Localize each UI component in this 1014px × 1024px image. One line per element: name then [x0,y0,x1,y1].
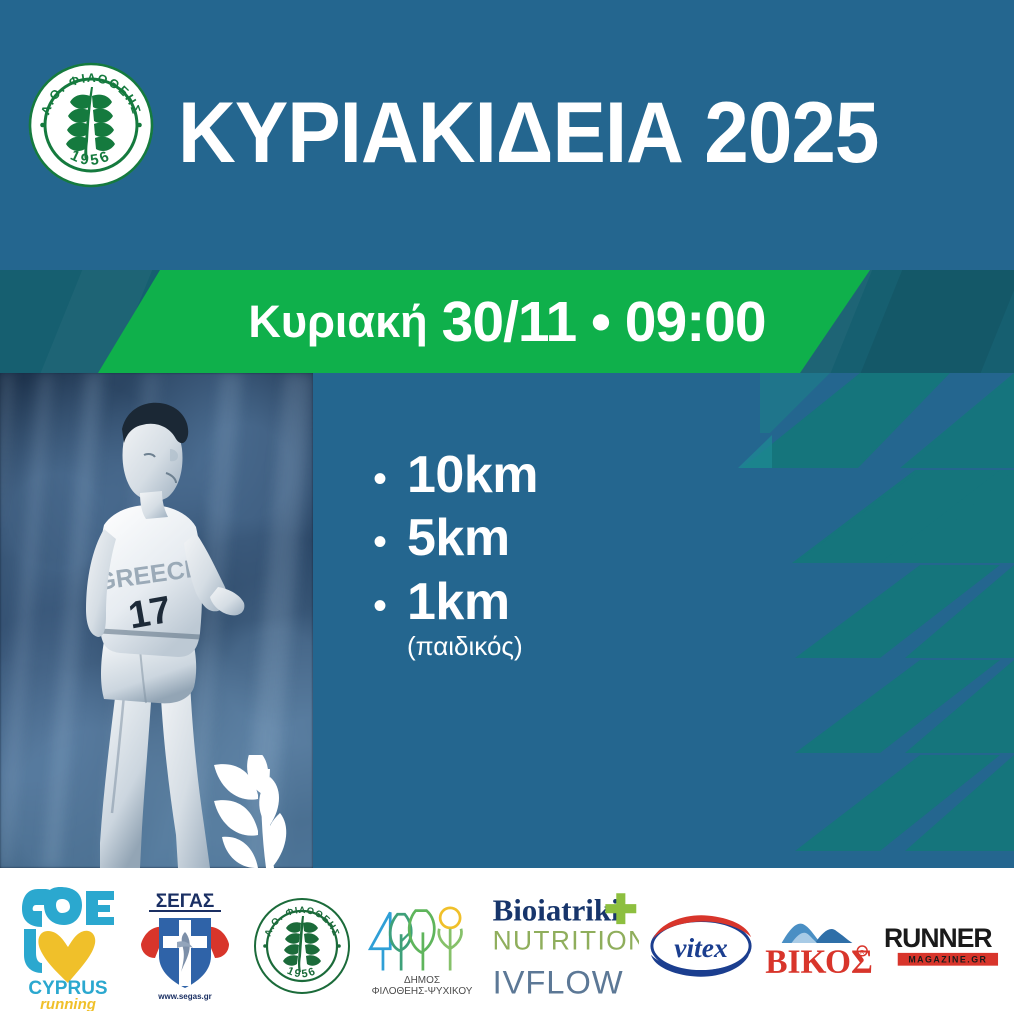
distance-item-1km: • 1km [373,572,538,633]
banner-datetime-label: 30/11 • 09:00 [442,289,766,355]
poster-body: GREECE 17 [0,373,1014,868]
sponsor-dimos-label-2: ΦΙΛΟΘΕΗΣ-ΨΥΧΙΚΟΥ [371,986,472,997]
bullet-icon: • [373,522,407,562]
distance-label-5km: 5km [407,508,510,569]
page-title: ΚΥΡΙΑΚΙΔΕΙΑ 2025 [178,90,878,176]
sponsor-love-cyprus-label-3: running [40,996,96,1011]
sponsor-segas: ΣΕΓΑΣ www.segas.gr [130,890,240,1002]
distance-list-column: • 10km • 5km • 1km (παιδικός) [313,373,700,868]
sponsor-bar: CYPRUS running ΣΕΓΑΣ www.segas.gr [0,868,1014,1024]
distance-list: • 10km • 5km • 1km (παιδικός) [373,445,538,662]
sponsor-ivflow-label: IVFLOW [493,963,624,1000]
sponsor-ao-filothei: Α.Ο. ΦΙΛΟΘΕΗΣ 1956 [249,896,355,996]
distance-item-10km: • 10km [373,445,538,506]
sponsor-bioiatriki-nutrition-ivflow: Bioiatriki NUTRITION IVFLOW [489,886,639,1006]
event-poster: Α.Ο. ΦΙΛΟΘΕΗΣ 1956 ΚΥΡΙΑΚΙΔΕΙΑ 2025 [0,0,1014,1024]
sponsor-segas-url: www.segas.gr [158,992,213,1001]
banner-day-label: Κυριακή [248,296,427,348]
distance-note-kids: (παιδικός) [407,631,538,662]
bullet-icon: • [373,459,407,499]
bullet-icon: • [373,586,407,626]
distance-item-5km: • 5km [373,508,538,569]
sponsor-runner-sub-label: MAGAZINE.GR [908,955,987,965]
distance-label-10km: 10km [407,445,538,506]
sponsor-runner-magazine: RUNNER MAGAZINE.GR [882,917,1000,975]
sponsor-vikos-label: ΒΙΚΟΣ [765,944,873,981]
svg-text:R: R [860,950,864,956]
vintage-runner-photo: GREECE 17 [0,373,313,868]
sponsor-vikos: ΒΙΚΟΣ R [764,911,874,981]
date-banner-text: Κυριακή 30/11 • 09:00 [0,270,1014,373]
sponsor-vitex: vitex [647,911,755,981]
sponsor-love-cyprus-running: CYPRUS running [14,881,122,1011]
distance-label-1km: 1km [407,572,510,633]
chevron-pattern [700,373,1014,868]
ao-filothei-club-logo: Α.Ο. ΦΙΛΟΘΕΗΣ 1956 [28,62,154,188]
olive-branch-motif [196,755,313,868]
sponsor-vitex-label: vitex [675,933,729,963]
sponsor-runner-label: RUNNER [884,923,992,953]
sponsor-dimos-filotheis-psychikou: ΔΗΜΟΣ ΦΙΛΟΘΕΗΣ-ΨΥΧΙΚΟΥ [363,891,481,1001]
sponsor-nutrition-label: NUTRITION [493,926,639,956]
svg-text:17: 17 [125,589,174,638]
sponsor-bioiatriki-label: Bioiatriki [493,893,620,928]
sponsor-segas-label: ΣΕΓΑΣ [156,891,215,912]
poster-header: Α.Ο. ΦΙΛΟΘΕΗΣ 1956 ΚΥΡΙΑΚΙΔΕΙΑ 2025 [0,0,1014,270]
sponsor-dimos-label-1: ΔΗΜΟΣ [404,975,440,986]
